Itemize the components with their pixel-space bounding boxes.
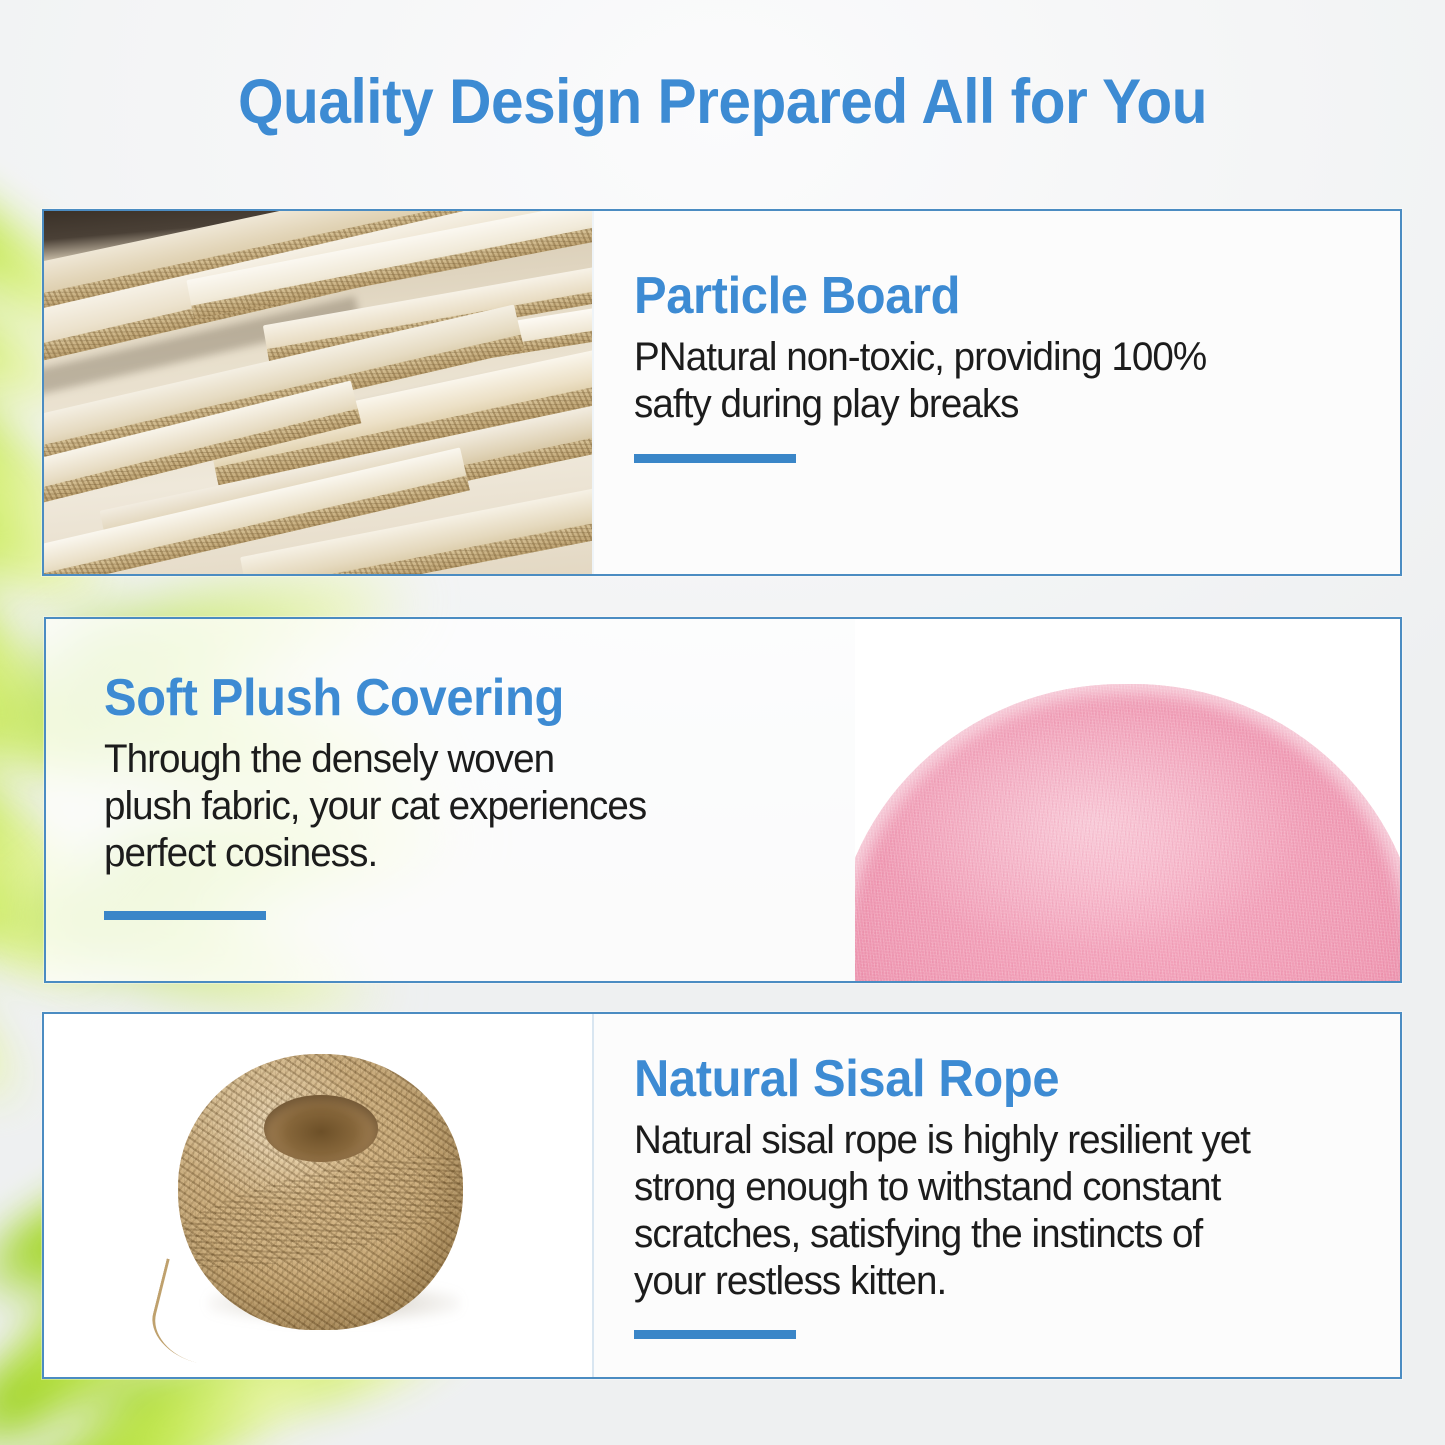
body-line: scratches, satisfying the instincts of <box>634 1211 1350 1258</box>
feature-card-particle-board: Particle Board PNatural non-toxic, provi… <box>42 209 1402 576</box>
body-line: strong enough to withstand constant <box>634 1164 1350 1211</box>
card-body-soft-plush-covering: Through the densely woven plush fabric, … <box>104 736 806 876</box>
particle-board-photo <box>44 211 592 574</box>
pink-plush-fabric-photo <box>855 619 1400 981</box>
body-line: perfect cosiness. <box>104 830 806 877</box>
infographic-page: Quality Design Prepared All for You <box>0 0 1445 1445</box>
body-line: plush fabric, your cat experiences <box>104 783 806 830</box>
accent-bar <box>634 454 796 463</box>
card-title-natural-sisal-rope: Natural Sisal Rope <box>634 1052 1331 1107</box>
body-line: Through the densely woven <box>104 736 806 783</box>
accent-bar <box>634 1330 796 1339</box>
card-body-natural-sisal-rope: Natural sisal rope is highly resilient y… <box>634 1117 1350 1304</box>
card-body-particle-board: PNatural non-toxic, providing 100% safty… <box>634 334 1344 428</box>
sisal-rope-text-pane: Natural Sisal Rope Natural sisal rope is… <box>592 1014 1400 1377</box>
particle-board-text-pane: Particle Board PNatural non-toxic, provi… <box>592 211 1400 574</box>
body-line: PNatural non-toxic, providing 100% <box>634 334 1344 381</box>
feature-card-soft-plush-covering: Soft Plush Covering Through the densely … <box>44 617 1402 983</box>
sisal-rope-ball-photo <box>44 1014 592 1377</box>
accent-bar <box>104 911 266 920</box>
body-line: safty during play breaks <box>634 381 1344 428</box>
soft-plush-text-pane: Soft Plush Covering Through the densely … <box>46 619 855 981</box>
card-title-particle-board: Particle Board <box>634 269 1326 324</box>
body-line: Natural sisal rope is highly resilient y… <box>634 1117 1350 1164</box>
body-line: your restless kitten. <box>634 1258 1350 1305</box>
page-title: Quality Design Prepared All for You <box>51 66 1395 138</box>
feature-card-natural-sisal-rope: Natural Sisal Rope Natural sisal rope is… <box>42 1012 1402 1379</box>
card-title-soft-plush-covering: Soft Plush Covering <box>104 671 787 726</box>
